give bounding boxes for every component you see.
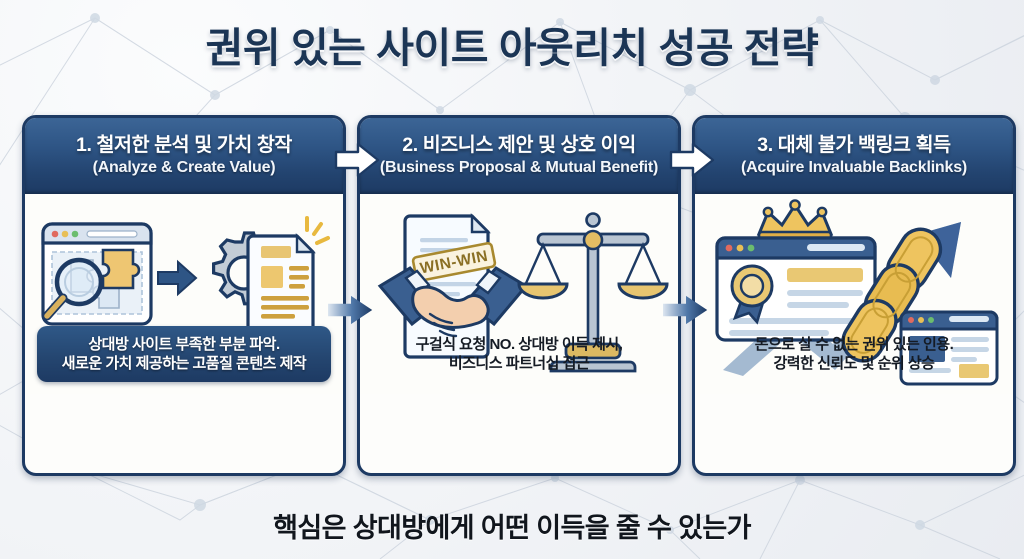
arrow-card2-to-card3-header [669,143,715,177]
step-card-1[interactable]: 1. 철저한 분석 및 가치 창작 (Analyze & Create Valu… [22,115,346,476]
step-3-title-ko: 3. 대체 불가 백링크 획득 [757,135,950,156]
step-2-header: 2. 비즈니스 제안 및 상호 이익 (Business Proposal & … [360,118,678,194]
spark-icon [307,218,328,243]
step-3-header: 3. 대체 불가 백링크 획득 (Acquire Invaluable Back… [695,118,1013,194]
step-1-title-en: (Analyze & Create Value) [93,159,276,177]
infographic-canvas: 권위 있는 사이트 아웃리치 성공 전략 1. 철저한 분석 및 가치 창작 (… [0,0,1024,559]
step-3-title-en: (Acquire Invaluable Backlinks) [741,159,967,177]
step-card-3[interactable]: 3. 대체 불가 백링크 획득 (Acquire Invaluable Back… [692,115,1016,476]
step-3-caption-line1: 돈으로 살 수 없는 권위 있는 인용. [755,335,954,354]
page-title: 권위 있는 사이트 아웃리치 성공 전략 [0,14,1024,74]
step-1-caption-line1: 상대방 사이트 부족한 부분 파악. [88,335,279,354]
step-2-caption: 구걸식 요청 NO. 상대방 이득 제시, 비즈니스 파트너십 접근 [372,326,666,382]
step-card-2[interactable]: 2. 비즈니스 제안 및 상호 이익 (Business Proposal & … [357,115,681,476]
footer-tagline: 핵심은 상대방에게 어떤 이득을 줄 수 있는가 [0,506,1024,545]
crown-icon [759,200,831,240]
step-2-title-ko: 2. 비즈니스 제안 및 상호 이익 [402,135,636,156]
step-2-body: WIN-WIN [360,194,678,394]
step-3-caption: 돈으로 살 수 없는 권위 있는 인용. 강력한 신뢰도 및 순위 상승 [707,326,1001,382]
steps-container: 1. 철저한 분석 및 가치 창작 (Analyze & Create Valu… [22,115,1008,470]
step-1-body: 상대방 사이트 부족한 부분 파악. 새로운 가치 제공하는 고품질 콘텐츠 제… [25,194,343,394]
step-1-header: 1. 철저한 분석 및 가치 창작 (Analyze & Create Valu… [25,118,343,194]
step-1-caption-line2: 새로운 가치 제공하는 고품질 콘텐츠 제작 [62,354,306,373]
step-1-caption: 상대방 사이트 부족한 부분 파악. 새로운 가치 제공하는 고품질 콘텐츠 제… [37,326,331,382]
gear-document-icon [214,218,328,333]
step-1-title-ko: 1. 철저한 분석 및 가치 창작 [76,135,292,156]
step-2-title-en: (Business Proposal & Mutual Benefit) [380,159,658,177]
arrow-right-icon [158,262,196,294]
step-2-caption-line1: 구걸식 요청 NO. 상대방 이득 제시, [416,335,623,354]
step-2-caption-line2: 비즈니스 파트너십 접근 [449,354,589,373]
step-3-caption-line2: 강력한 신뢰도 및 순위 상승 [774,354,935,373]
arrow-card1-to-card2-body [328,293,374,327]
arrow-card2-to-card3-body [663,293,709,327]
arrow-card1-to-card2-header [334,143,380,177]
browser-magnifier-puzzle-icon [43,224,151,324]
step-3-body: 돈으로 살 수 없는 권위 있는 인용. 강력한 신뢰도 및 순위 상승 [695,194,1013,394]
